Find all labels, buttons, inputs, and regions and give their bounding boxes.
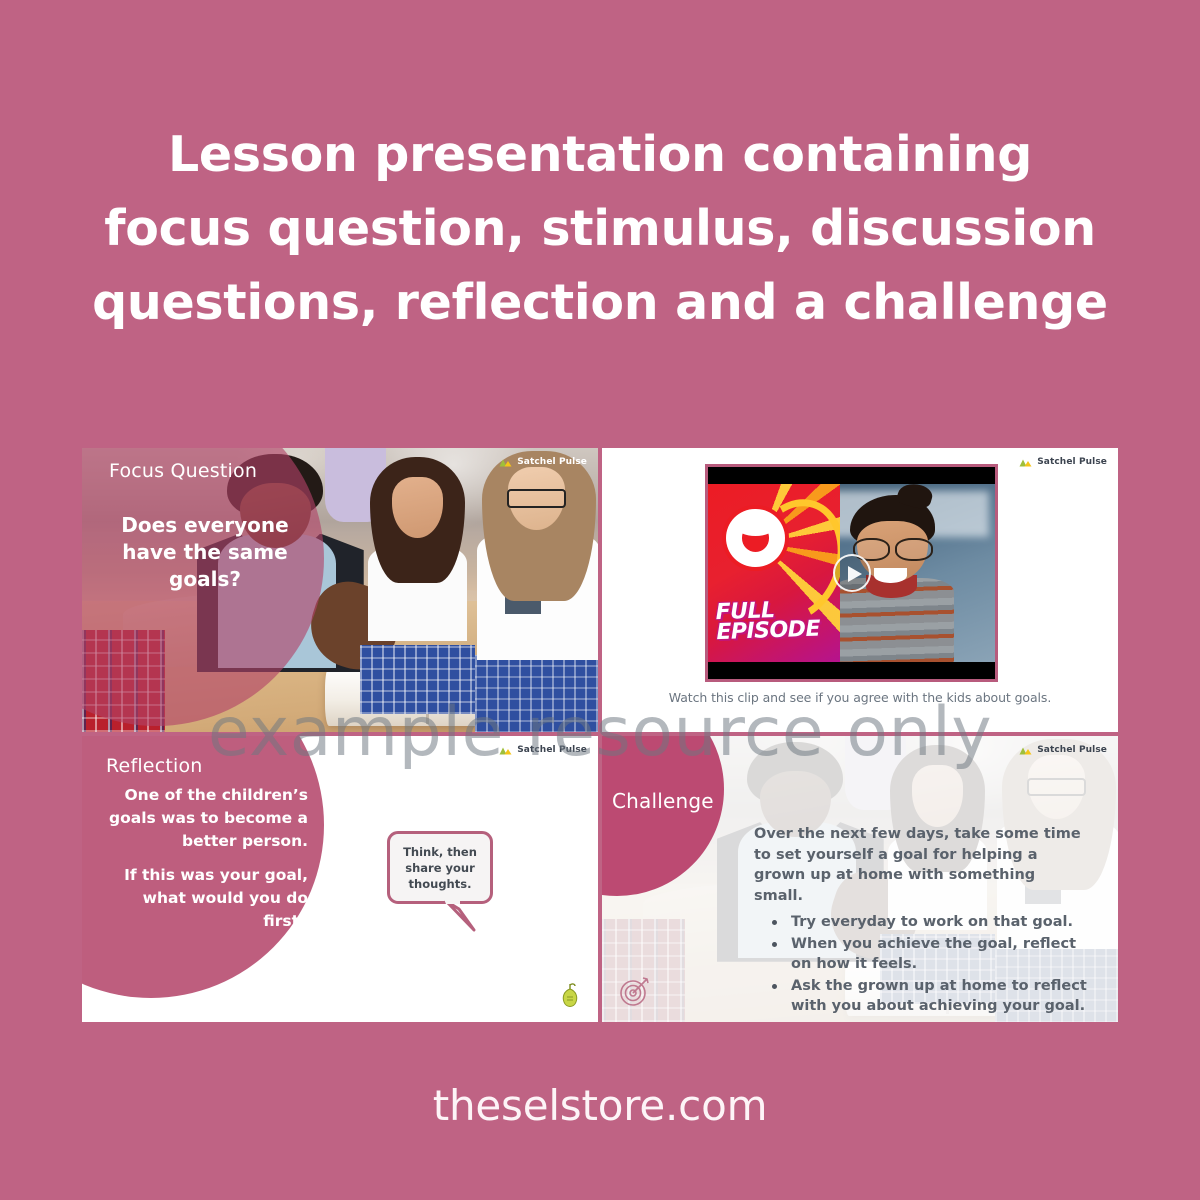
challenge-bullet-list: Try everyday to work on that goal. When …	[770, 912, 1090, 1018]
brand-logo-challenge: Satchel Pulse	[1019, 745, 1107, 755]
page-title-line-2: focus question, stimulus, discussion	[80, 192, 1120, 266]
challenge-bullet-1: Try everyday to work on that goal.	[770, 912, 1090, 933]
page-title-line-3: questions, reflection and a challenge	[80, 266, 1120, 340]
brand-name-challenge: Satchel Pulse	[1037, 745, 1107, 755]
mountain-logo-icon	[499, 746, 513, 755]
brand-logo-reflection: Satchel Pulse	[499, 745, 587, 755]
brand-name-video: Satchel Pulse	[1037, 457, 1107, 467]
slide-focus-question[interactable]: Focus Question Does everyone have the sa…	[80, 446, 600, 734]
footer-url: theselstore.com	[0, 1081, 1200, 1130]
slide-label-focus-question: Focus Question	[109, 460, 257, 482]
video-embed[interactable]: FULL EPISODE	[705, 464, 998, 682]
full-episode-label: FULL EPISODE	[715, 599, 838, 643]
brand-logo-video: Satchel Pulse	[1019, 457, 1107, 467]
focus-question-text: Does everyone have the same goals?	[102, 512, 308, 593]
reflection-text: One of the children’s goals was to becom…	[98, 784, 308, 933]
pear-icon	[559, 983, 581, 1010]
mountain-logo-icon	[1019, 458, 1033, 467]
reflection-paragraph-1: One of the children’s goals was to becom…	[98, 784, 308, 853]
think-share-bubble-text: Think, then share your thoughts.	[390, 834, 490, 901]
student-figure-2	[479, 451, 598, 678]
page-title-line-1: Lesson presentation containing	[80, 118, 1120, 192]
challenge-bullet-2: When you achieve the goal, reflect on ho…	[770, 934, 1090, 975]
cbc-full-episode-badge: FULL EPISODE	[708, 484, 840, 662]
slide-label-reflection: Reflection	[106, 755, 203, 777]
focus-question-line-2: have the same	[102, 539, 308, 566]
slide-stimulus-video[interactable]: Satchel Pulse FULL EPISO	[600, 446, 1120, 734]
mountain-logo-icon	[1019, 746, 1033, 755]
video-caption: Watch this clip and see if you agree wit…	[602, 690, 1118, 705]
slide-challenge[interactable]: Challenge Over the next few days, take s…	[600, 734, 1120, 1024]
student-figure-1	[366, 457, 469, 661]
speech-bubble-tail-icon	[444, 899, 478, 933]
badge-line-2: EPISODE	[716, 619, 838, 643]
brand-name-focus: Satchel Pulse	[517, 457, 587, 467]
think-share-bubble: Think, then share your thoughts.	[387, 831, 493, 904]
challenge-body-text: Over the next few days, take some time t…	[754, 824, 1084, 906]
page-title: Lesson presentation containing focus que…	[0, 118, 1200, 340]
target-icon	[618, 974, 652, 1008]
focus-question-line-1: Does everyone	[102, 512, 308, 539]
slide-preview-grid: Focus Question Does everyone have the sa…	[80, 446, 1120, 1024]
play-button-icon[interactable]	[833, 554, 871, 592]
slide-label-challenge: Challenge	[612, 789, 714, 813]
brand-logo-focus: Satchel Pulse	[499, 457, 587, 467]
cbc-logo-icon	[726, 509, 784, 567]
reflection-paragraph-2: If this was your goal, what would you do…	[98, 864, 308, 933]
challenge-bullet-3: Ask the grown up at home to reflect with…	[770, 976, 1090, 1017]
brand-name-reflection: Satchel Pulse	[517, 745, 587, 755]
focus-question-line-3: goals?	[102, 566, 308, 593]
slide-reflection[interactable]: Reflection One of the children’s goals w…	[80, 734, 600, 1024]
mountain-logo-icon	[499, 458, 513, 467]
